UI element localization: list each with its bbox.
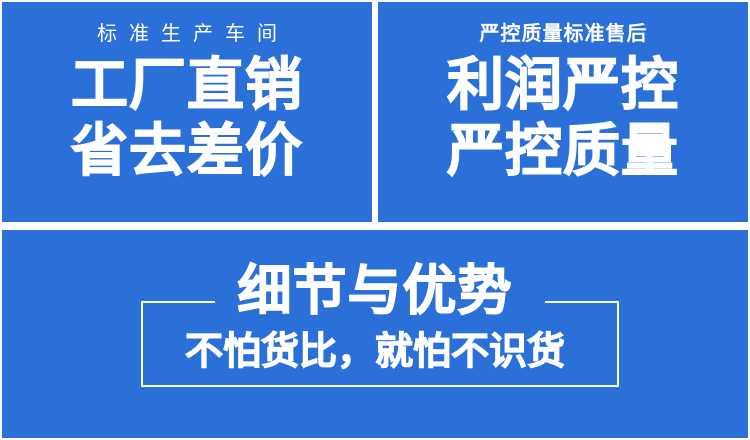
panel-quality-control-headline-line2: 严控质量 xyxy=(447,122,679,180)
panel-quality-control-headline-line1: 利润严控 xyxy=(447,56,679,114)
details-title: 细节与优势 xyxy=(2,264,748,318)
panel-factory-direct-content: 标准生产车间 工厂直销 省去差价 xyxy=(2,2,372,222)
panel-quality-control: 严控质量标准售后 利润严控 严控质量 xyxy=(378,2,748,222)
panel-quality-control-eyebrow: 严控质量标准售后 xyxy=(479,24,648,44)
panel-factory-direct-eyebrow: 标准生产车间 xyxy=(85,24,289,44)
promo-banner: 标准生产车间 工厂直销 省去差价 严控质量标准售后 利润严控 严控质量 细节与优… xyxy=(0,0,750,440)
panel-details-advantages: 细节与优势 不怕货比，就怕不识货 xyxy=(2,230,748,438)
top-panel-row: 标准生产车间 工厂直销 省去差价 严控质量标准售后 利润严控 严控质量 xyxy=(0,0,750,222)
panel-factory-direct: 标准生产车间 工厂直销 省去差价 xyxy=(2,2,372,222)
panel-factory-direct-headline-line1: 工厂直销 xyxy=(71,56,303,114)
details-subtitle: 不怕货比，就怕不识货 xyxy=(2,333,748,371)
panel-factory-direct-headline-line2: 省去差价 xyxy=(71,122,303,180)
panel-quality-control-content: 严控质量标准售后 利润严控 严控质量 xyxy=(378,2,748,222)
